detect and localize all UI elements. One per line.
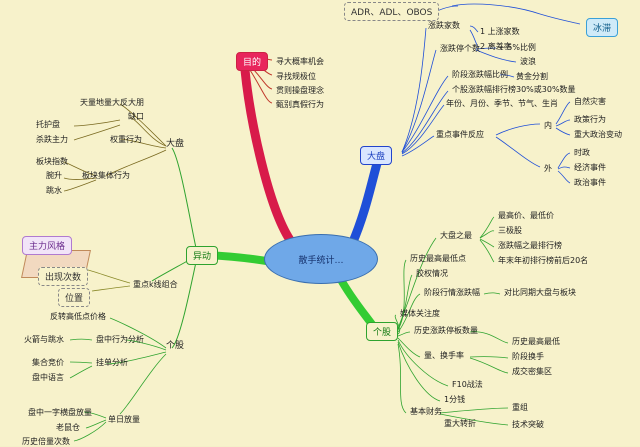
node-gegushuliang[interactable]: 个股涨跌幅排行榜30%或30%数量 bbox=[452, 86, 576, 95]
node-tiandiliang[interactable]: 天量地量大反大朋 bbox=[80, 99, 144, 108]
branch-individual-left[interactable]: 个股 bbox=[166, 342, 184, 352]
node-sanban[interactable]: 三极股 bbox=[498, 227, 522, 236]
node-zhengceixingwei[interactable]: 政策行为 bbox=[574, 116, 606, 125]
node-tuohudian[interactable]: 托护盘 bbox=[36, 121, 60, 130]
node-jieduanxingqing[interactable]: 阶段行情涨跌幅 bbox=[424, 289, 480, 298]
node-zhongdashijian[interactable]: 重点事件反应 bbox=[436, 131, 484, 140]
node-jieduanhuanshou[interactable]: 阶段换手 bbox=[512, 353, 544, 362]
node-danriyangliang[interactable]: 单日放量 bbox=[108, 416, 140, 425]
center-node[interactable]: 散手统计… bbox=[264, 234, 378, 284]
node-shangzhangjiashu[interactable]: 1 上涨家数 bbox=[480, 28, 520, 37]
node-jishutupo[interactable]: 技术突破 bbox=[512, 421, 544, 430]
node-liangh[interactable]: 量、换手率 bbox=[424, 352, 464, 361]
node-zhengzhi[interactable]: 重大政治变动 bbox=[574, 131, 622, 140]
node-jibencaiwu[interactable]: 基本财务 bbox=[410, 408, 442, 417]
node-adr[interactable]: ADR、ADL、OBOS bbox=[344, 2, 439, 21]
node-jingjishijian[interactable]: 经济事件 bbox=[574, 164, 606, 173]
node-zhongdiankxian[interactable]: 重点k线组合 bbox=[133, 281, 178, 290]
node-chongzu[interactable]: 重组 bbox=[512, 404, 528, 413]
node-chuxiancishu[interactable]: 出现次数 bbox=[38, 267, 88, 286]
node-wubili[interactable]: +.5%比例 bbox=[498, 44, 536, 53]
node-dapanzhizhi[interactable]: 大盘之最 bbox=[440, 232, 472, 241]
node-quekou[interactable]: 缺口 bbox=[128, 113, 144, 122]
node-panzhongyuyan[interactable]: 盘中语言 bbox=[32, 374, 64, 383]
node-guadanfenxi[interactable]: 挂单分析 bbox=[96, 359, 128, 368]
node-zhulifengge[interactable]: 主力风格 bbox=[22, 236, 72, 255]
node-xunzhaoguandian[interactable]: 寻找规极位 bbox=[276, 73, 316, 82]
branch-market-left[interactable]: 大盘 bbox=[166, 140, 184, 150]
node-quanzhongxingwei[interactable]: 权重行为 bbox=[110, 136, 142, 145]
node-lishizuigaodian[interactable]: 历史最高最低点 bbox=[410, 255, 466, 264]
node-tiaoshui[interactable]: 跳水 bbox=[46, 187, 62, 196]
node-nianmoniannian[interactable]: 年末年初排行榜前后20名 bbox=[498, 257, 588, 266]
node-chengjiaomiji[interactable]: 成交密集区 bbox=[512, 368, 552, 377]
node-huangjinfenge[interactable]: 黄金分割 bbox=[516, 73, 548, 82]
node-jieduanzhangdie[interactable]: 阶段涨跌幅比例 bbox=[452, 71, 508, 80]
node-huodaotiaoshui[interactable]: 火箭与跳水 bbox=[24, 336, 64, 345]
node-guanchanxinnian[interactable]: 贯则操盘理念 bbox=[276, 87, 324, 96]
branch-purpose[interactable]: 目的 bbox=[236, 52, 268, 71]
node-lengzhi[interactable]: 冰滞 bbox=[586, 18, 618, 37]
node-fanzhuangaodi[interactable]: 反转高低点价格 bbox=[50, 313, 106, 322]
node-lishizuigaozuidi[interactable]: 历史最高最低 bbox=[512, 338, 560, 347]
node-panzhongyizi[interactable]: 盘中一字横盘放量 bbox=[28, 409, 92, 418]
connector-lines bbox=[0, 0, 640, 446]
node-gugujiaqing[interactable]: 胶权情况 bbox=[416, 270, 448, 279]
node-f10[interactable]: F10战法 bbox=[452, 381, 483, 390]
node-bolang[interactable]: 波浪 bbox=[520, 58, 536, 67]
node-lishibeiliang[interactable]: 历史倍量次数 bbox=[22, 438, 70, 447]
node-yueshi[interactable]: 腕升 bbox=[46, 172, 62, 181]
branch-market[interactable]: 大盘 bbox=[360, 146, 392, 165]
branch-stock[interactable]: 个股 bbox=[366, 322, 398, 341]
node-bankuaizhishu[interactable]: 板块指数 bbox=[36, 158, 68, 167]
node-ziransaishi[interactable]: 自然灾害 bbox=[574, 98, 606, 107]
node-nei[interactable]: 内 bbox=[544, 122, 552, 131]
node-zuigaojia[interactable]: 最高价、最低价 bbox=[498, 212, 554, 221]
node-shizheng[interactable]: 时政 bbox=[574, 149, 590, 158]
node-bankuaijiti[interactable]: 板块集体行为 bbox=[82, 172, 130, 181]
node-zhangdiefupaihang[interactable]: 涨跌幅之最排行榜 bbox=[498, 242, 562, 251]
node-zhengzhishijian[interactable]: 政治事件 bbox=[574, 179, 606, 188]
node-lishizhangdiefu[interactable]: 历史涨跌停板数量 bbox=[414, 327, 478, 336]
node-panzhongxingwei[interactable]: 盘中行为分析 bbox=[96, 336, 144, 345]
node-zhongdazhuanzhe[interactable]: 重大转折 bbox=[444, 420, 476, 429]
node-jihejingjia[interactable]: 集合竞价 bbox=[32, 359, 64, 368]
node-laoliangbai[interactable]: 老鼠仓 bbox=[56, 424, 80, 433]
node-wai[interactable]: 外 bbox=[544, 165, 552, 174]
mindmap-canvas: 散手统计… 目的 大盘 异动 个股 大盘 个股 ADR、ADL、OBOS冰滞涨跌… bbox=[0, 0, 640, 446]
node-xundagailv[interactable]: 寻大概率机会 bbox=[276, 58, 324, 67]
node-weizhi[interactable]: 位置 bbox=[58, 288, 90, 307]
node-piaoduijiaxingwei[interactable]: 甄别真假行为 bbox=[276, 101, 324, 110]
node-meitiguanzhu[interactable]: 媒体关注度 bbox=[400, 310, 440, 319]
node-duibidaqi[interactable]: 对比同期大盘与板块 bbox=[504, 289, 576, 298]
node-nianfen[interactable]: 年份、月份、季节、节气、生肖 bbox=[446, 100, 558, 109]
node-zhangdiejiashu[interactable]: 涨跌家数 bbox=[428, 22, 460, 31]
node-shashazhuli[interactable]: 杀跌主力 bbox=[36, 136, 68, 145]
node-zhangtingge[interactable]: 涨跌停个数 bbox=[440, 45, 480, 54]
branch-anomaly[interactable]: 异动 bbox=[186, 246, 218, 265]
node-yifenqian[interactable]: 1分钱 bbox=[444, 396, 465, 405]
